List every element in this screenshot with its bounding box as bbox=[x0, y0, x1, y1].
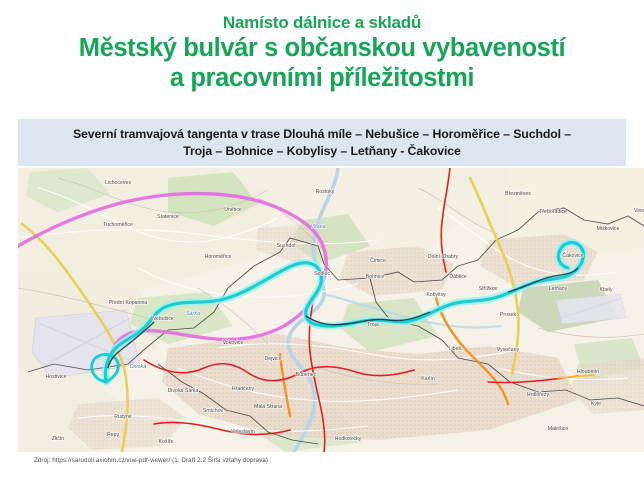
map-place-label: Hodkovičky bbox=[335, 436, 362, 442]
map-place-label: Kyje bbox=[591, 401, 601, 407]
route-banner-line2: Troja – Bohnice – Kobylisy – Letňany - Č… bbox=[183, 144, 461, 158]
map-place-label: Vinoř bbox=[634, 208, 644, 214]
map-place-label: Nebušice bbox=[152, 316, 174, 322]
map-place-label: Malá Strana bbox=[254, 404, 282, 410]
map-place-label: Dolní Chabry bbox=[428, 254, 459, 260]
map-place-label: Divoká Šárka bbox=[168, 387, 199, 394]
route-banner: Severní tramvajová tangenta v trase Dlou… bbox=[18, 119, 626, 166]
map-place-label: Vokovice bbox=[223, 340, 244, 346]
map-water-label: Vltava bbox=[311, 224, 326, 230]
map-place-label: Čakovice bbox=[562, 252, 583, 259]
map-place-label: Dejvice bbox=[264, 356, 281, 362]
map-place-label: Hrdlořezy bbox=[527, 392, 550, 398]
map-place-label: Hostivice bbox=[45, 374, 66, 380]
map-place-label: Přední Kopanina bbox=[109, 300, 148, 306]
map-place-label: Statenice bbox=[157, 214, 179, 220]
title-kicker: Namísto dálnice a skladů bbox=[0, 12, 644, 33]
map-place-label: Smíchov bbox=[203, 408, 224, 414]
map-place-label: Ruzyně bbox=[114, 414, 132, 420]
title-main-line2: a pracovními příležitostmi bbox=[0, 63, 644, 93]
route-banner-line1: Severní tramvajová tangenta v trase Dlou… bbox=[73, 127, 571, 141]
slide-canvas: Namísto dálnice a skladů Městský bulvár … bbox=[0, 0, 644, 483]
map-place-label: Malešice bbox=[548, 426, 569, 432]
map-place-label: Letňany bbox=[549, 286, 568, 292]
map-place-label: Bohnice bbox=[366, 274, 385, 280]
map-place-label: Kobylisy bbox=[426, 292, 446, 298]
route-banner-text: Severní tramvajová tangenta v trase Dlou… bbox=[63, 126, 581, 160]
map-place-label: Únětice bbox=[224, 206, 242, 213]
source-citation: Zdroj: https://sarudoli.axiohm.cz/vue-pd… bbox=[34, 457, 268, 464]
map-place-label: Prosek bbox=[500, 312, 517, 318]
map-place-label: Suchdol bbox=[277, 243, 296, 249]
map-svg: LichocevesTuchoměřiceStateniceÚněticeHor… bbox=[18, 168, 644, 452]
map-place-label: Veleslavín bbox=[231, 429, 255, 435]
map-place-label: Miškovice bbox=[597, 226, 620, 232]
map-place-label: Hloubětín bbox=[577, 369, 599, 375]
map-place-label: Bubeneč bbox=[296, 372, 317, 378]
map-place-label: Kbely bbox=[600, 287, 613, 293]
map-place-label: Třeboradice bbox=[539, 209, 567, 215]
map-place-label: Tuchoměřice bbox=[103, 222, 133, 228]
title-main-line1: Městský bulvár s občanskou vybaveností bbox=[0, 33, 644, 63]
map-place-label: Ďáblice bbox=[449, 272, 466, 280]
map-place-label: Sedlec bbox=[314, 271, 330, 277]
map-place-label: Zličín bbox=[52, 436, 65, 442]
map-place-label: Březiněves bbox=[505, 191, 531, 197]
map-place-label: Hradčany bbox=[232, 386, 255, 392]
map-water-label: Divoká bbox=[130, 364, 146, 370]
map-place-label: Vysočany bbox=[497, 347, 520, 353]
map-water-label: Šárka bbox=[186, 310, 200, 317]
map-place-label: Roztoky bbox=[316, 189, 335, 195]
title-block: Namísto dálnice a skladů Městský bulvár … bbox=[0, 12, 644, 93]
map-place-label: Řepy bbox=[107, 430, 120, 438]
map-place-label: Libeň bbox=[449, 346, 462, 352]
map-place-label: Košíře bbox=[159, 439, 174, 445]
map-place-label: Čimice bbox=[370, 257, 386, 264]
map-place-label: Lichoceves bbox=[105, 180, 131, 186]
map-place-label: Horoměřice bbox=[205, 254, 232, 260]
map-place-label: Karlín bbox=[421, 376, 435, 382]
map-image[interactable]: LichocevesTuchoměřiceStateniceÚněticeHor… bbox=[18, 168, 644, 452]
map-place-label: Troja bbox=[367, 322, 379, 328]
map-place-label: Střížkov bbox=[479, 286, 498, 292]
